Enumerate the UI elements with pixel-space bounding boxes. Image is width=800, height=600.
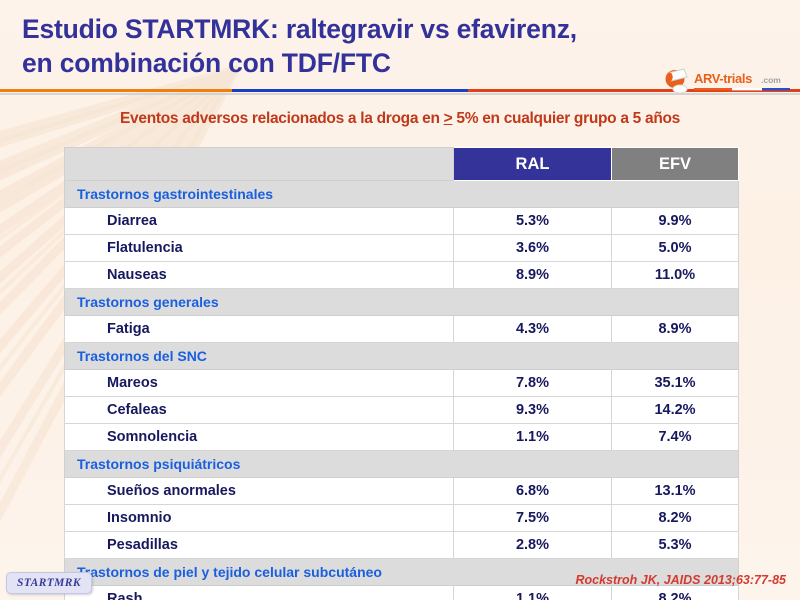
table-row: Flatulencia3.6%5.0% — [65, 235, 739, 262]
ral-value: 5.3% — [454, 208, 612, 235]
efv-value: 35.1% — [612, 370, 739, 397]
ral-value: 8.9% — [454, 262, 612, 289]
adverse-events-table-wrap: RAL EFV Trastornos gastrointestinalesDia… — [64, 147, 738, 600]
category-row: Trastornos del SNC — [65, 343, 739, 370]
event-label: Nauseas — [65, 262, 454, 289]
pill-bottle-icon — [666, 69, 688, 93]
table-row: Nauseas8.9%11.0% — [65, 262, 739, 289]
column-header-ral: RAL — [454, 148, 612, 181]
efv-value: 11.0% — [612, 262, 739, 289]
table-row: Mareos7.8%35.1% — [65, 370, 739, 397]
event-label: Rash — [65, 586, 454, 600]
category-label: Trastornos del SNC — [65, 343, 739, 370]
table-row: Rash1.1%8.2% — [65, 586, 739, 600]
efv-value: 13.1% — [612, 478, 739, 505]
event-label: Sueños anormales — [65, 478, 454, 505]
page-title-line2: en combinación con TDF/FTC — [22, 46, 682, 80]
table-row: Insomnio7.5%8.2% — [65, 505, 739, 532]
efv-value: 14.2% — [612, 397, 739, 424]
table-row: Cefaleas9.3%14.2% — [65, 397, 739, 424]
event-label: Mareos — [65, 370, 454, 397]
table-row: Sueños anormales6.8%13.1% — [65, 478, 739, 505]
ral-value: 7.8% — [454, 370, 612, 397]
ral-value: 7.5% — [454, 505, 612, 532]
table-body: Trastornos gastrointestinalesDiarrea5.3%… — [65, 181, 739, 600]
efv-value: 7.4% — [612, 424, 739, 451]
event-label: Somnolencia — [65, 424, 454, 451]
efv-value: 5.0% — [612, 235, 739, 262]
event-label: Flatulencia — [65, 235, 454, 262]
table-head: RAL EFV — [65, 148, 739, 181]
event-label: Fatiga — [65, 316, 454, 343]
category-row: Trastornos psiquiátricos — [65, 451, 739, 478]
svg-text:.com: .com — [761, 75, 781, 85]
table-header-row: RAL EFV — [65, 148, 739, 181]
slide-canvas: Estudio STARTMRK: raltegravir vs efavire… — [0, 0, 800, 600]
rule-segment-blue — [232, 89, 468, 92]
category-row: Trastornos gastrointestinales — [65, 181, 739, 208]
table-row: Diarrea5.3%9.9% — [65, 208, 739, 235]
column-header-efv: EFV — [612, 148, 739, 181]
table-row: Fatiga4.3%8.9% — [65, 316, 739, 343]
startmrk-badge[interactable]: STARTMRK — [6, 572, 92, 594]
svg-text:ARV-trials: ARV-trials — [694, 71, 752, 86]
efv-value: 8.2% — [612, 505, 739, 532]
subtitle-part1: Eventos adversos relacionados a la droga… — [120, 110, 444, 127]
event-label: Insomnio — [65, 505, 454, 532]
ral-value: 2.8% — [454, 532, 612, 559]
subtitle-part2: 5% en cualquier grupo a 5 años — [452, 110, 680, 127]
event-label: Pesadillas — [65, 532, 454, 559]
ral-value: 4.3% — [454, 316, 612, 343]
citation-reference: Rockstroh JK, JAIDS 2013;63:77-85 — [575, 573, 786, 587]
event-label: Cefaleas — [65, 397, 454, 424]
category-row: Trastornos generales — [65, 289, 739, 316]
efv-value: 9.9% — [612, 208, 739, 235]
category-label: Trastornos psiquiátricos — [65, 451, 739, 478]
ral-value: 9.3% — [454, 397, 612, 424]
efv-value: 5.3% — [612, 532, 739, 559]
category-label: Trastornos gastrointestinales — [65, 181, 739, 208]
page-title: Estudio STARTMRK: raltegravir vs efavire… — [22, 12, 682, 80]
slide-header: Estudio STARTMRK: raltegravir vs efavire… — [0, 0, 800, 104]
column-header-event — [65, 148, 454, 181]
adverse-events-table: RAL EFV Trastornos gastrointestinalesDia… — [64, 147, 739, 600]
category-label: Trastornos generales — [65, 289, 739, 316]
subtitle: Eventos adversos relacionados a la droga… — [0, 110, 800, 128]
page-title-line1: Estudio STARTMRK: raltegravir vs efavire… — [22, 14, 577, 44]
table-row: Pesadillas2.8%5.3% — [65, 532, 739, 559]
event-label: Diarrea — [65, 208, 454, 235]
table-row: Somnolencia1.1%7.4% — [65, 424, 739, 451]
arv-trials-logo[interactable]: ARV-trials .com — [660, 66, 792, 100]
efv-value: 8.2% — [612, 586, 739, 600]
ral-value: 3.6% — [454, 235, 612, 262]
ral-value: 1.1% — [454, 586, 612, 600]
ral-value: 6.8% — [454, 478, 612, 505]
ral-value: 1.1% — [454, 424, 612, 451]
rule-segment-orange — [0, 89, 232, 92]
efv-value: 8.9% — [612, 316, 739, 343]
